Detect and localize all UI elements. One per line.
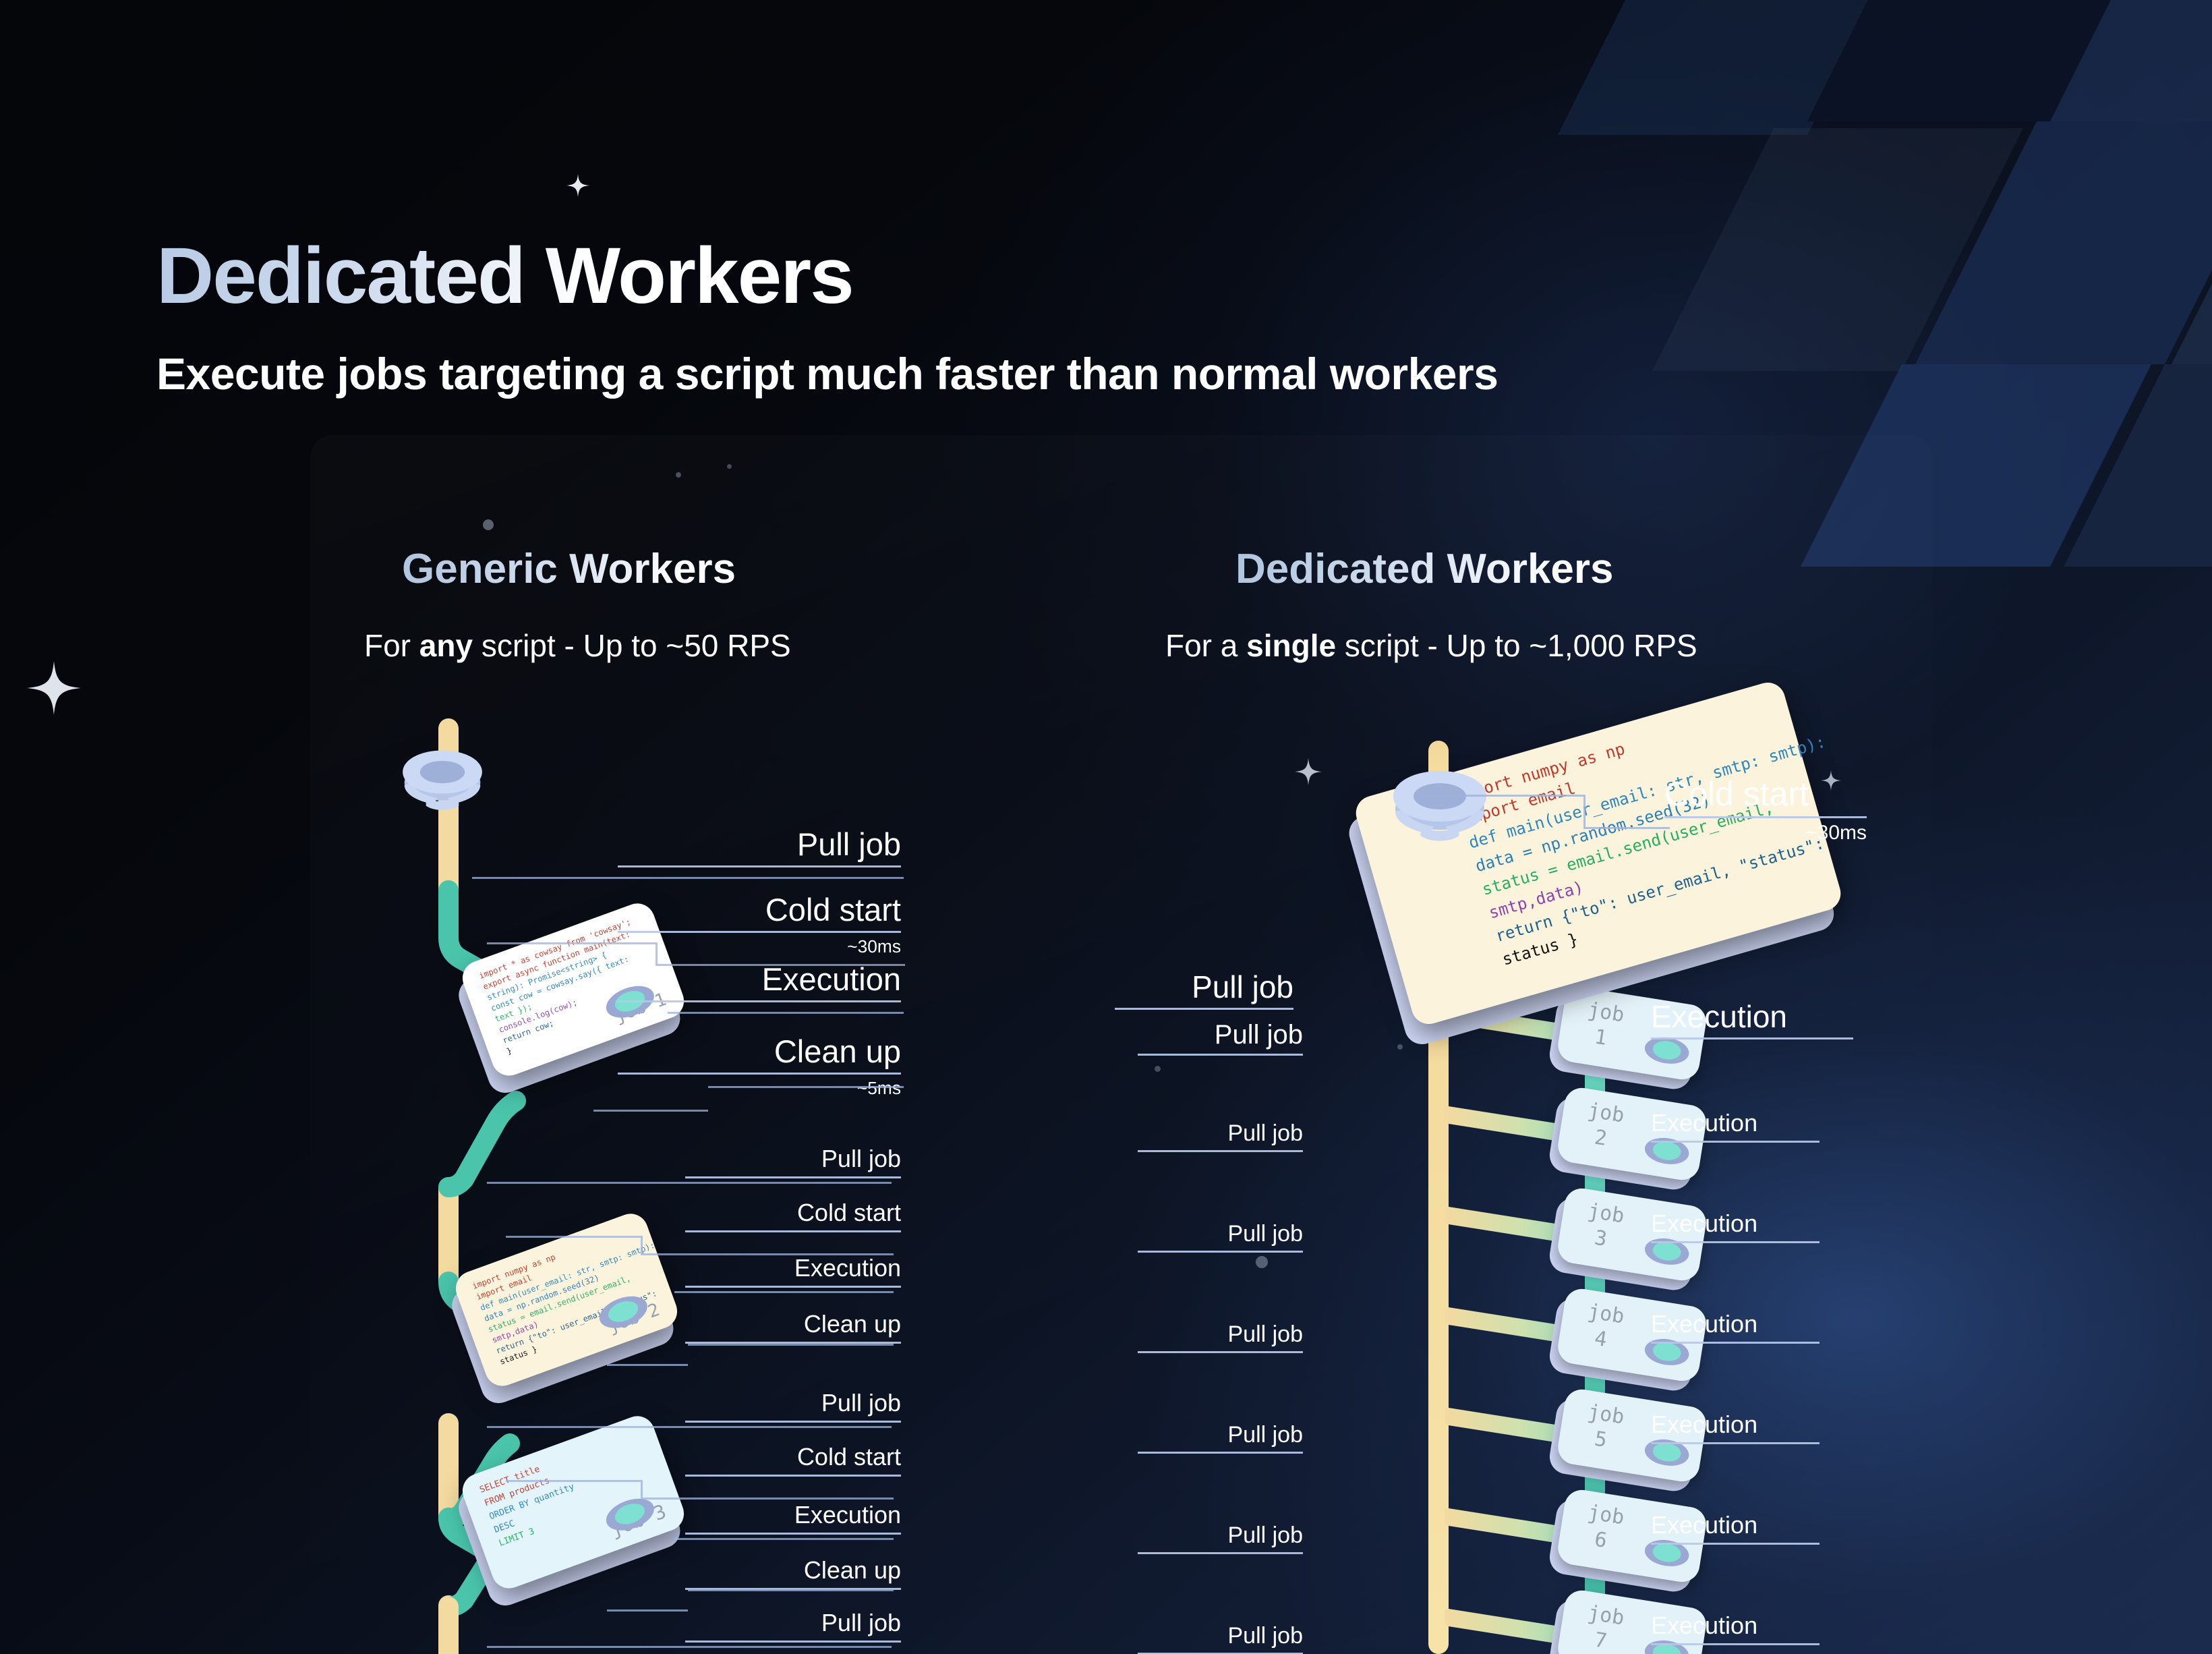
label-text: Pull job [685,1611,901,1635]
column-heading-generic: Generic Workers [402,545,736,593]
label-cold-start-dedicated: Cold start~30ms [1664,777,1867,843]
label-rule [1651,1442,1820,1444]
label-text: Pull job [1138,1323,1303,1346]
sub-strong: single [1246,628,1336,663]
label-rule [1138,1054,1303,1056]
job-chip-label: job [1586,1000,1625,1027]
label-cold-start-1: Cold start~30ms [618,894,901,955]
label-text: Pull job [1138,1423,1303,1446]
label-text: Pull job [685,1147,901,1171]
label-rule [1138,1552,1303,1554]
label-rule [618,931,901,933]
label-rule [1651,1037,1853,1039]
leader-line [607,1609,688,1612]
label-rule [685,1286,901,1288]
label-rule [1138,1452,1303,1454]
label-rule [1651,1141,1820,1143]
label-execution-1: Execution [618,963,901,1002]
label-text: Cold start [685,1201,901,1225]
job-chip-label: job [1586,1402,1625,1429]
label-execution-1: Execution [1651,1001,1853,1039]
label-text: Pull job [1138,1222,1303,1245]
label-clean-up-2: Clean up [685,1312,901,1344]
job-chip-number: 3 [1593,1226,1608,1251]
label-pull-job-2: Pull job [685,1147,901,1178]
label-execution-2: Execution [685,1256,901,1288]
infographic-canvas: Dedicated Workers Execute jobs targeting… [0,0,2212,1654]
leader-line [688,1589,894,1591]
label-text: Clean up [685,1558,901,1582]
label-execution-7: Execution [1651,1614,1820,1645]
leader-line [593,1110,708,1112]
sub-suffix: script - Up to ~1,000 RPS [1336,628,1697,663]
job-chip-label: job [1586,1603,1625,1630]
label-text: Cold start [685,1445,901,1469]
label-rule [1138,1150,1303,1152]
leader-line [674,1538,894,1540]
label-execution-4: Execution [1651,1312,1820,1344]
label-sub: ~30ms [1664,823,1867,843]
leader-line [487,1646,892,1648]
label-rule [1651,1241,1820,1243]
leader-step [656,942,658,964]
label-text: Clean up [618,1035,901,1067]
label-text: Execution [1651,1001,1853,1032]
gear-icon-wrap [399,749,486,814]
label-rule [685,1533,901,1535]
label-pull-job-top: Pull job [1115,971,1293,1010]
column-subheading-generic: For any script - Up to ~50 RPS [364,627,791,664]
job-chip-number: 7 [1593,1628,1608,1653]
label-clean-up-3: Clean up [685,1558,901,1590]
label-text: Execution [1651,1111,1820,1135]
job-chip-number: 1 [1593,1025,1608,1050]
gear-icon-wrap [1389,769,1490,845]
label-pull-job-4: Pull job [685,1611,901,1643]
leader-line [487,942,656,944]
label-execution-5: Execution [1651,1413,1820,1444]
page-title: Dedicated Workers [156,236,853,316]
label-rule [1115,1008,1293,1010]
leader-line [487,1426,892,1428]
label-text: Clean up [685,1312,901,1336]
label-pull-job-3: Pull job [685,1391,901,1423]
job-chip-label: job [1586,1100,1625,1127]
label-text: Cold start [618,894,901,925]
label-pull-job-5: Pull job [1138,1423,1303,1454]
leader-line [1583,827,1670,829]
label-execution-3: Execution [685,1503,901,1535]
label-text: Cold start [1664,777,1867,811]
label-rule [685,1475,901,1477]
job-chip-number: 4 [1593,1327,1608,1352]
leader-line [506,1236,641,1238]
label-text: Pull job [1138,1524,1303,1547]
label-rule [618,1000,901,1002]
sub-prefix: For a [1165,628,1246,663]
leader-line [688,1344,894,1346]
label-rule [685,1421,901,1423]
leader-step [641,1236,643,1253]
label-execution-2: Execution [1651,1111,1820,1143]
label-text: Pull job [618,828,901,860]
leader-step [1583,795,1585,827]
label-execution-3: Execution [1651,1211,1820,1243]
label-rule [685,1176,901,1178]
leader-line [708,1086,904,1088]
leader-line [506,1480,641,1482]
label-cold-start-3: Cold start [685,1445,901,1477]
label-sub: ~30ms [618,938,901,955]
label-rule [685,1641,901,1643]
job-chip-label: job [1586,1301,1625,1328]
label-text: Pull job [1138,1624,1303,1647]
label-sub: ~5ms [618,1079,901,1097]
label-execution-6: Execution [1651,1513,1820,1545]
label-pull-job-3: Pull job [1138,1222,1303,1253]
leader-step [641,1480,643,1498]
column-heading-dedicated: Dedicated Workers [1235,545,1614,593]
label-pull-job-7: Pull job [1138,1624,1303,1654]
job-chip-number: 5 [1593,1427,1608,1452]
leader-line [472,877,904,879]
label-text: Execution [1651,1513,1820,1537]
label-cold-start-2: Cold start [685,1201,901,1232]
label-pull-job-2: Pull job [1138,1122,1303,1152]
sub-strong: any [419,628,473,663]
label-rule [1138,1351,1303,1353]
label-text: Execution [685,1256,901,1280]
label-pull-job-1: Pull job [1138,1021,1303,1056]
label-rule [618,865,901,867]
leader-line [668,1012,904,1014]
sub-suffix: script - Up to ~50 RPS [473,628,791,663]
label-text: Execution [1651,1312,1820,1336]
label-pull-job-4: Pull job [1138,1323,1303,1353]
leader-line [674,1291,894,1293]
label-text: Pull job [1138,1021,1303,1048]
leader-line [607,1364,688,1366]
label-text: Pull job [1115,971,1293,1002]
label-text: Execution [1651,1211,1820,1236]
sub-prefix: For [364,628,419,663]
job-chip-number: 6 [1593,1528,1608,1553]
label-text: Pull job [1138,1122,1303,1145]
label-rule [618,1073,901,1075]
leader-line [641,1498,894,1500]
leader-line [1422,795,1583,797]
job-chip-label: job [1586,1201,1625,1228]
label-pull-job-1: Pull job [618,828,901,867]
label-text: Execution [618,963,901,995]
label-rule [1651,1342,1820,1344]
label-text: Execution [1651,1413,1820,1437]
job-chip-label: job [1586,1502,1625,1529]
label-rule [1651,1643,1820,1645]
gear-icon [1389,769,1490,842]
page-subtitle: Execute jobs targeting a script much fas… [156,348,1498,399]
code-line: } [505,1046,513,1056]
label-rule [1138,1251,1303,1253]
label-text: Pull job [685,1391,901,1415]
label-rule [1664,816,1867,818]
label-rule [1651,1543,1820,1545]
leader-line [487,1182,892,1184]
column-subheading-dedicated: For a single script - Up to ~1,000 RPS [1165,627,1697,664]
label-text: Execution [1651,1614,1820,1638]
sparkle-icon [27,661,81,715]
label-text: Execution [685,1503,901,1527]
label-pull-job-6: Pull job [1138,1524,1303,1554]
gear-icon [399,749,486,811]
label-rule [685,1230,901,1232]
sparkle-icon [566,174,589,197]
job-chip-number: 2 [1593,1126,1608,1151]
